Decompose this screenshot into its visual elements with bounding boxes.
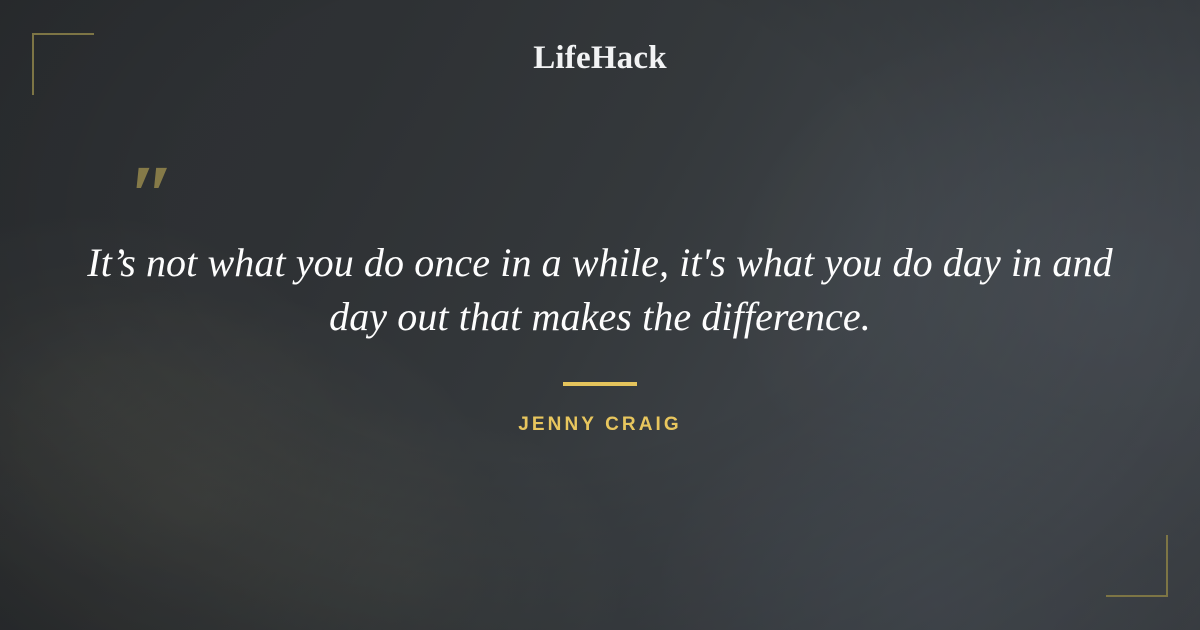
author-name: JENNY CRAIG xyxy=(0,414,1200,436)
quote-text: It’s not what you do once in a while, it… xyxy=(84,236,1116,345)
quotation-mark-icon: ″ xyxy=(128,152,176,238)
quote-card: LifeHack ″ It’s not what you do once in … xyxy=(0,0,1200,630)
divider-rule xyxy=(563,382,637,386)
quote-line-1: It’s not what you do once in a while, it… xyxy=(87,240,1042,285)
brand-logo: LifeHack xyxy=(0,40,1200,77)
attribution-block: JENNY CRAIG xyxy=(0,382,1200,436)
card-content: LifeHack ″ It’s not what you do once in … xyxy=(0,0,1200,630)
quote-block: It’s not what you do once in a while, it… xyxy=(84,236,1116,345)
